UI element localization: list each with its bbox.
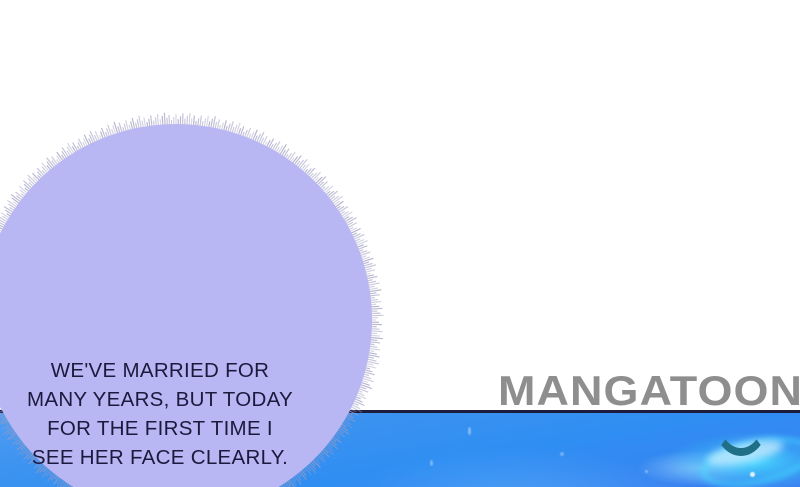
comic-panel: MANGATOON WE'VE MARRIED FOR MANY YEARS, … bbox=[0, 0, 800, 487]
mangatoon-watermark: MANGATOON bbox=[498, 370, 800, 412]
speech-line: WE'VE MARRIED FOR bbox=[0, 356, 334, 385]
watermark-label: MANGATOON bbox=[498, 370, 800, 412]
artwork-blue-panel bbox=[0, 410, 800, 487]
